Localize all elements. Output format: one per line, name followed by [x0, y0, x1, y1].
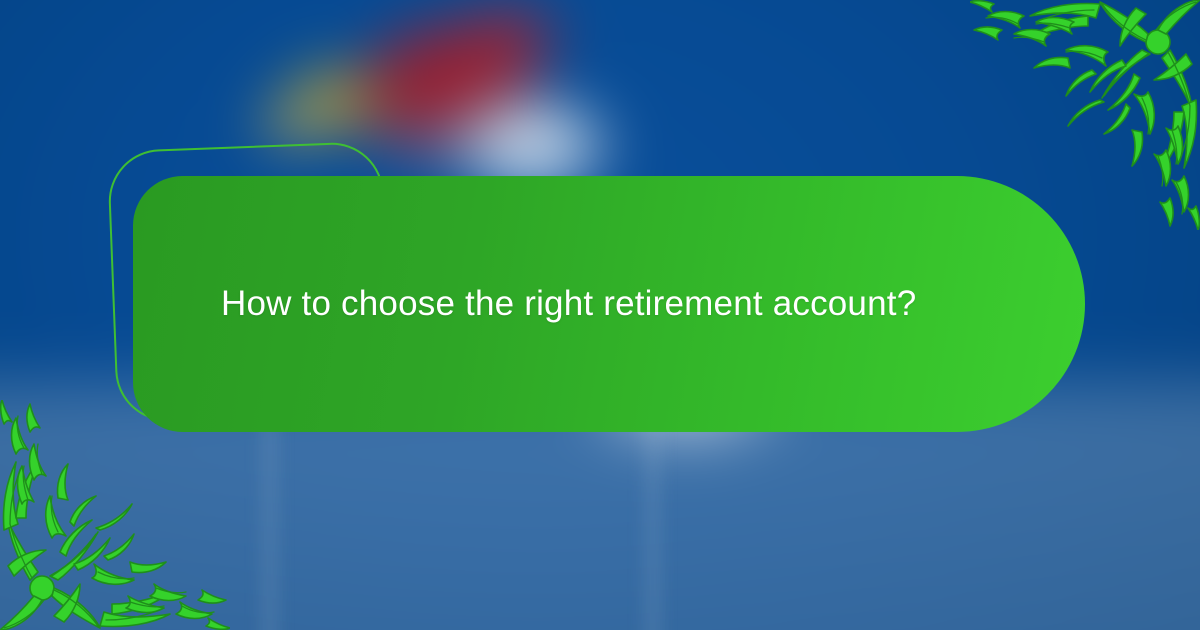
page-title: How to choose the right retirement accou… — [133, 283, 976, 325]
poster-canvas: How to choose the right retirement accou… — [0, 0, 1200, 630]
headline-banner: How to choose the right retirement accou… — [133, 176, 1085, 432]
